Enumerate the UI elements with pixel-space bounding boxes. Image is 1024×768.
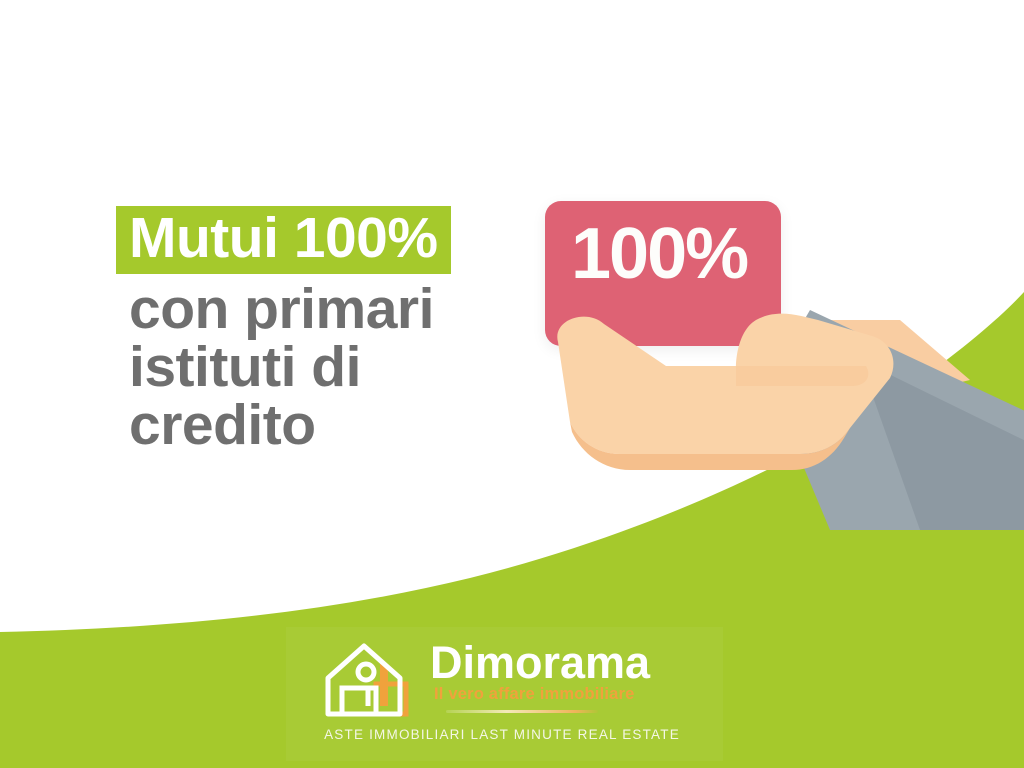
brand-logo[interactable]: Dimorama Il vero affare immobiliare ASTE… xyxy=(322,632,682,752)
logo-wordmark: Dimorama xyxy=(430,640,650,685)
logo-divider-rule xyxy=(446,710,598,713)
promo-banner: Mutui 100% con primari istituti di credi… xyxy=(0,0,1024,768)
headline-line-3: istituti di xyxy=(124,340,554,394)
headline-block: Mutui 100% con primari istituti di credi… xyxy=(124,206,554,452)
headline-line-4: credito xyxy=(124,398,554,452)
headline-line-2: con primari xyxy=(124,282,554,336)
logo-subline: ASTE IMMOBILIARI LAST MINUTE REAL ESTATE xyxy=(324,728,680,742)
logo-tagline: Il vero affare immobiliare xyxy=(434,686,635,703)
headline-line-1: Mutui 100% xyxy=(116,206,451,274)
open-hand-icon xyxy=(500,170,1024,530)
hand-holding-card-illustration: 100% xyxy=(500,170,1024,530)
house-outline-icon xyxy=(322,638,430,726)
